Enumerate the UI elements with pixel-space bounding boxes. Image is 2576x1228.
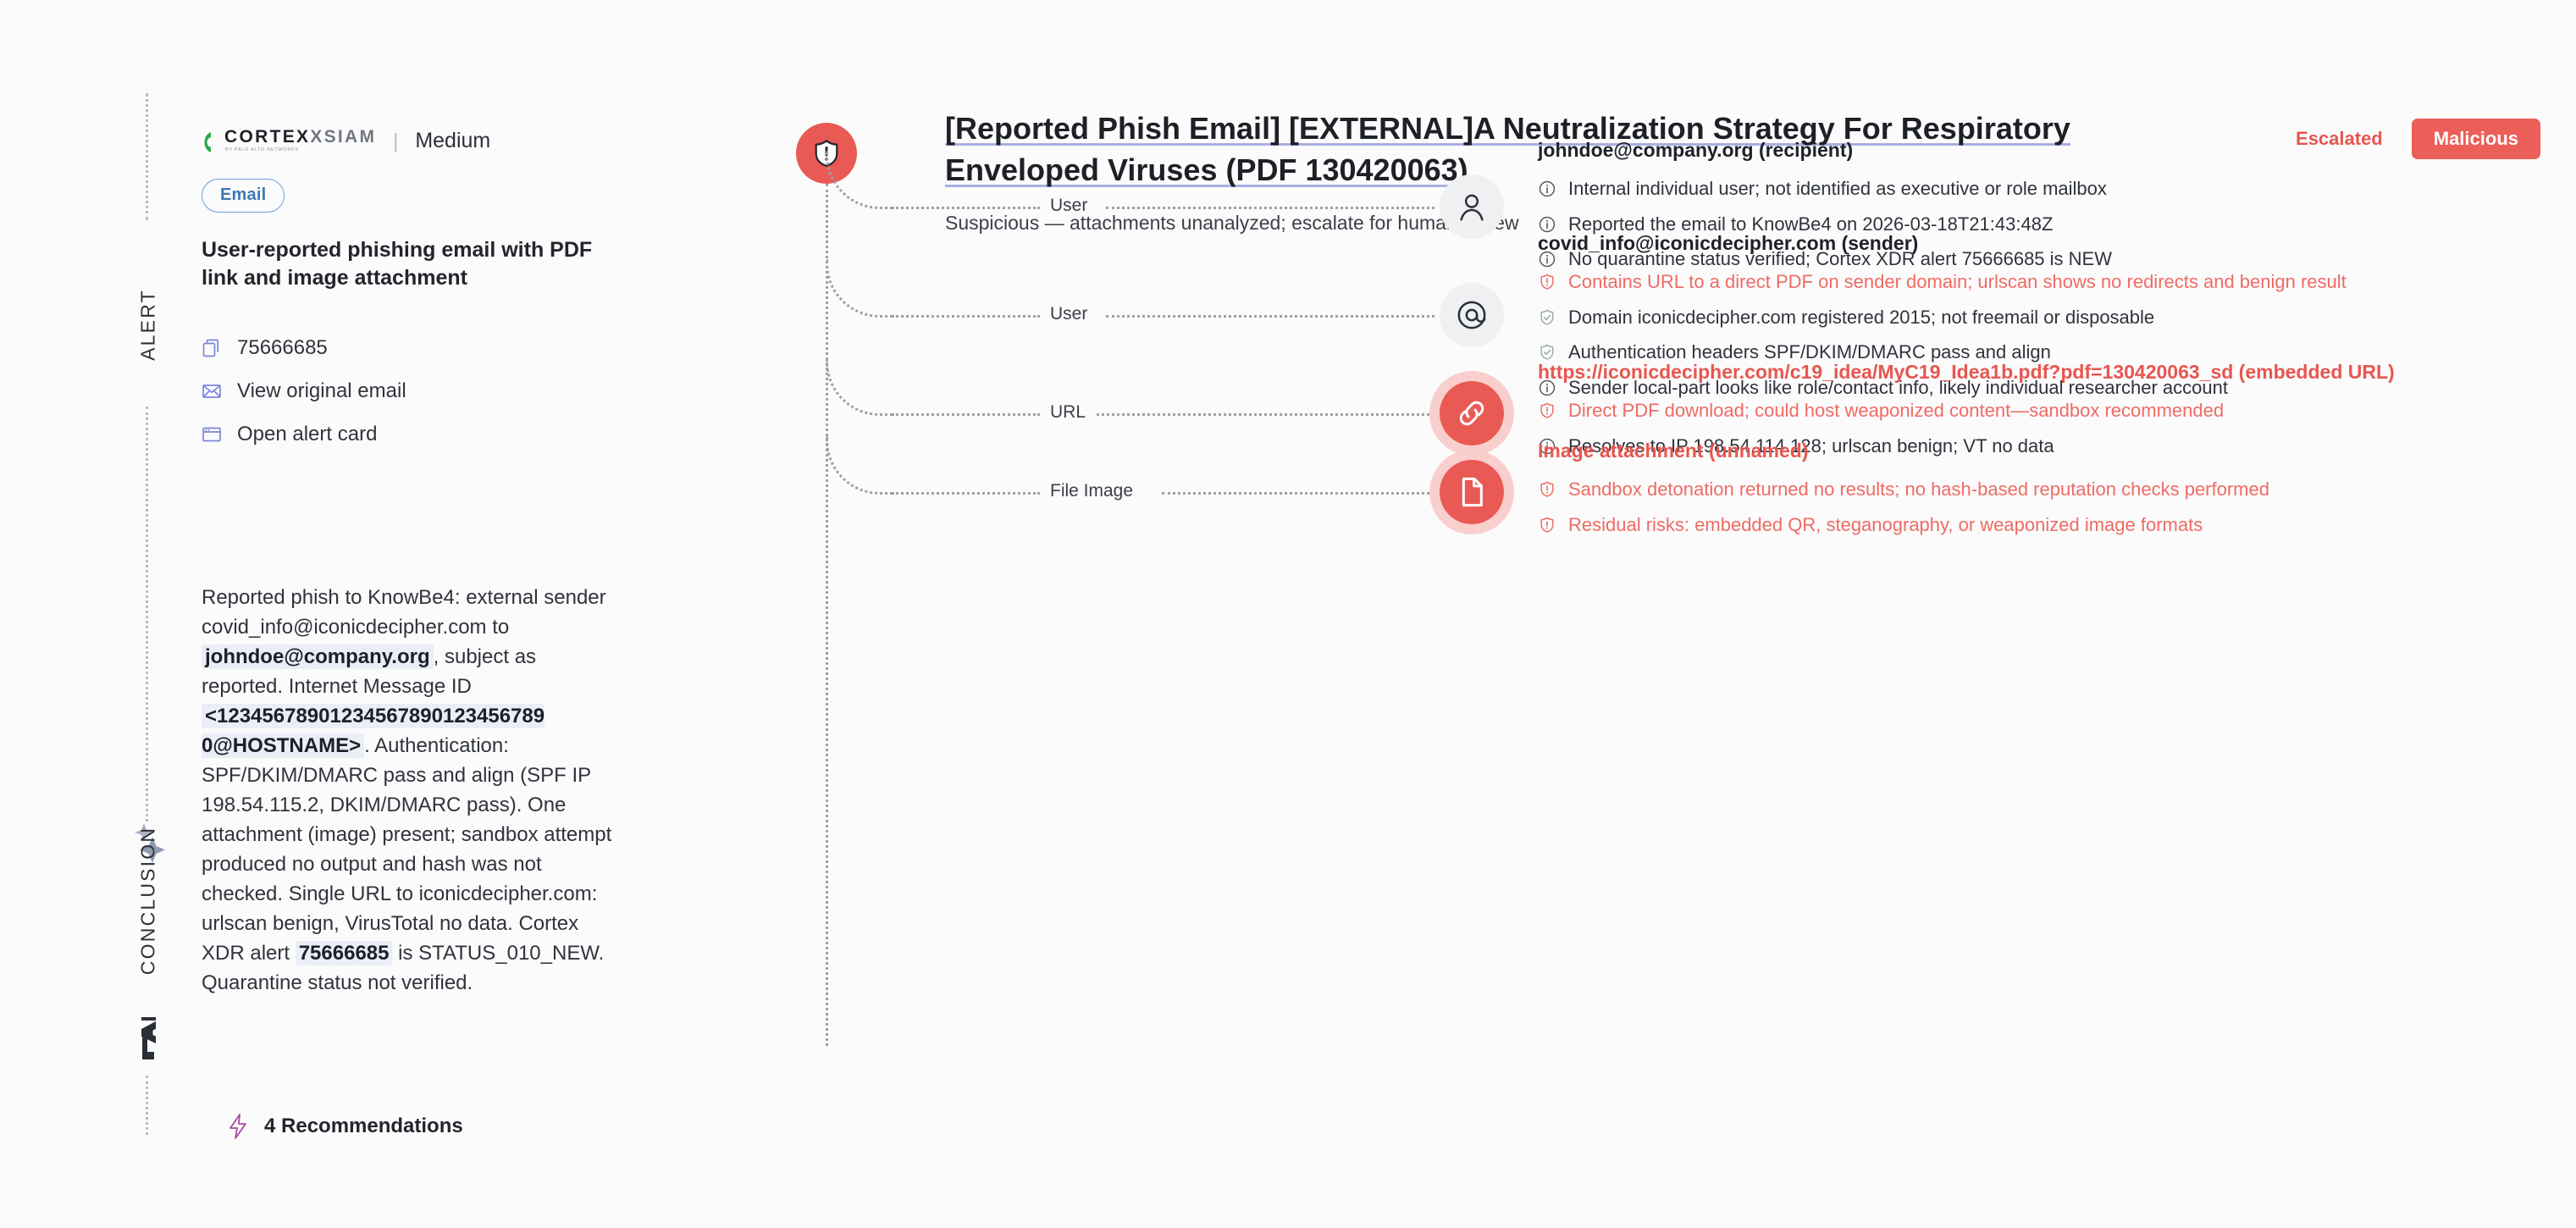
graph-finding-text: Contains URL to a direct PDF on sender d…	[1568, 270, 2347, 294]
action-label: Open alert card	[237, 423, 377, 446]
graph-edge-label: User	[1050, 304, 1087, 324]
severity-label: Medium	[415, 129, 490, 153]
graph-edge-right	[1106, 315, 1434, 318]
graph-finding-text: Domain iconicdecipher.com registered 201…	[1568, 306, 2154, 329]
graph-edge-label: User	[1050, 196, 1087, 216]
graph-finding: Sandbox detonation returned no results; …	[1538, 478, 2269, 501]
entity-graph: Userjohndoe@company.org (recipient)Inter…	[796, 102, 2540, 1101]
file-icon	[1455, 475, 1489, 509]
graph-branch	[826, 357, 894, 416]
graph-finding-text: Direct PDF download; could host weaponiz…	[1568, 399, 2224, 423]
shield-check-icon	[1538, 343, 1556, 362]
copy-icon	[202, 338, 222, 358]
brand-row: CORTEXXSIAM BY PALO ALTO NETWORKS | Medi…	[202, 124, 642, 158]
graph-node-title: johndoe@company.org (recipient)	[1538, 139, 2112, 162]
info-icon	[1538, 180, 1556, 198]
cortex-logo: CORTEXXSIAM BY PALO ALTO NETWORKS	[202, 128, 376, 152]
graph-edge-left	[892, 315, 1040, 318]
action-view-original-email[interactable]: View original email	[202, 370, 642, 413]
shield-alert-icon	[1538, 480, 1556, 499]
category-pill-email[interactable]: Email	[202, 179, 285, 213]
shield-alert-icon	[1538, 273, 1556, 291]
graph-edge-left	[892, 413, 1040, 416]
graph-finding-text: Internal individual user; not identified…	[1568, 177, 2107, 201]
conclusion-highlight: 75666685	[296, 941, 393, 965]
conclusion-panel: Reported phish to KnowBe4: external send…	[202, 583, 616, 998]
action-open-alert-card[interactable]: Open alert card	[202, 413, 642, 456]
graph-finding-text: Residual risks: embedded QR, steganograp…	[1568, 513, 2203, 537]
window-icon	[202, 424, 222, 445]
cortex-mark-icon	[202, 131, 220, 153]
graph-branch	[826, 151, 894, 209]
section-rail: ALERT CONCLUSION	[129, 93, 164, 1135]
rail-label-alert: ALERT	[137, 262, 160, 389]
conclusion-highlight: johndoe@company.org	[202, 644, 434, 669]
graph-trunk	[826, 184, 828, 1046]
bolt-icon	[227, 1114, 249, 1139]
graph-edge-left	[892, 492, 1040, 495]
alert-actions-list: 75666685 View original email Open alert …	[202, 327, 642, 456]
graph-edge-right	[1162, 492, 1434, 495]
shield-alert-icon	[1538, 516, 1556, 534]
cortex-suffix: XSIAM	[310, 127, 376, 147]
graph-edge-label: URL	[1050, 402, 1086, 423]
graph-edge-right	[1106, 207, 1434, 209]
graph-node-avatar[interactable]	[1440, 174, 1504, 239]
person-icon	[1455, 190, 1489, 224]
graph-edge-label: File Image	[1050, 481, 1133, 501]
recommendations-label: 4 Recommendations	[264, 1115, 463, 1138]
cortex-name: CORTEX	[224, 127, 310, 147]
graph-branch	[826, 436, 894, 495]
graph-node-title: covid_info@iconicdecipher.com (sender)	[1538, 232, 2347, 255]
action-copy-alert-id[interactable]: 75666685	[202, 327, 642, 370]
graph-branch	[826, 259, 894, 318]
alert-panel: CORTEXXSIAM BY PALO ALTO NETWORKS | Medi…	[202, 124, 642, 456]
shield-alert-icon	[1538, 401, 1556, 420]
graph-edge-right	[1097, 413, 1434, 416]
conclusion-segment: . Authentication: SPF/DKIM/DMARC pass an…	[202, 734, 611, 965]
rail-divider-top	[146, 93, 148, 220]
brand-separator: |	[393, 130, 398, 152]
rail-label-conclusion: CONCLUSION	[137, 812, 160, 990]
alert-headline: User-reported phishing email with PDF li…	[202, 236, 625, 293]
graph-node-avatar[interactable]	[1440, 381, 1504, 445]
graph-node-avatar[interactable]	[1440, 283, 1504, 347]
envelope-icon	[202, 381, 222, 401]
graph-finding: Internal individual user; not identified…	[1538, 177, 2112, 201]
info-icon	[1538, 215, 1556, 234]
action-label: 75666685	[237, 336, 328, 360]
graph-finding: Residual risks: embedded QR, steganograp…	[1538, 513, 2269, 537]
conclusion-segment: Reported phish to KnowBe4: external send…	[202, 586, 606, 639]
cortex-wordmark: CORTEXXSIAM BY PALO ALTO NETWORKS	[224, 128, 376, 152]
rail-divider-bottom	[146, 1076, 148, 1135]
graph-node-avatar[interactable]	[1440, 460, 1504, 524]
zai-logo	[134, 1016, 164, 1064]
graph-finding: Contains URL to a direct PDF on sender d…	[1538, 270, 2347, 294]
graph-finding: Domain iconicdecipher.com registered 201…	[1538, 306, 2347, 329]
shield-check-icon	[1538, 308, 1556, 327]
graph-node-title[interactable]: Image attachment (unnamed)	[1538, 440, 2269, 462]
rail-divider-middle	[146, 407, 148, 821]
graph-node-details: Image attachment (unnamed)Sandbox detona…	[1538, 440, 2269, 548]
recommendations-row[interactable]: 4 Recommendations	[227, 1114, 463, 1139]
graph-finding-text: Sandbox detonation returned no results; …	[1568, 478, 2269, 501]
cortex-tagline: BY PALO ALTO NETWORKS	[225, 148, 376, 152]
link-icon	[1455, 396, 1489, 430]
cortex-wordmark-text: CORTEXXSIAM	[224, 128, 376, 146]
conclusion-text: Reported phish to KnowBe4: external send…	[202, 583, 616, 998]
graph-node-title[interactable]: https://iconicdecipher.com/c19_idea/MyC1…	[1538, 361, 2395, 384]
graph-edge-left	[892, 207, 1040, 209]
action-label: View original email	[237, 379, 406, 403]
at-icon	[1455, 298, 1489, 332]
graph-finding: Direct PDF download; could host weaponiz…	[1538, 399, 2395, 423]
